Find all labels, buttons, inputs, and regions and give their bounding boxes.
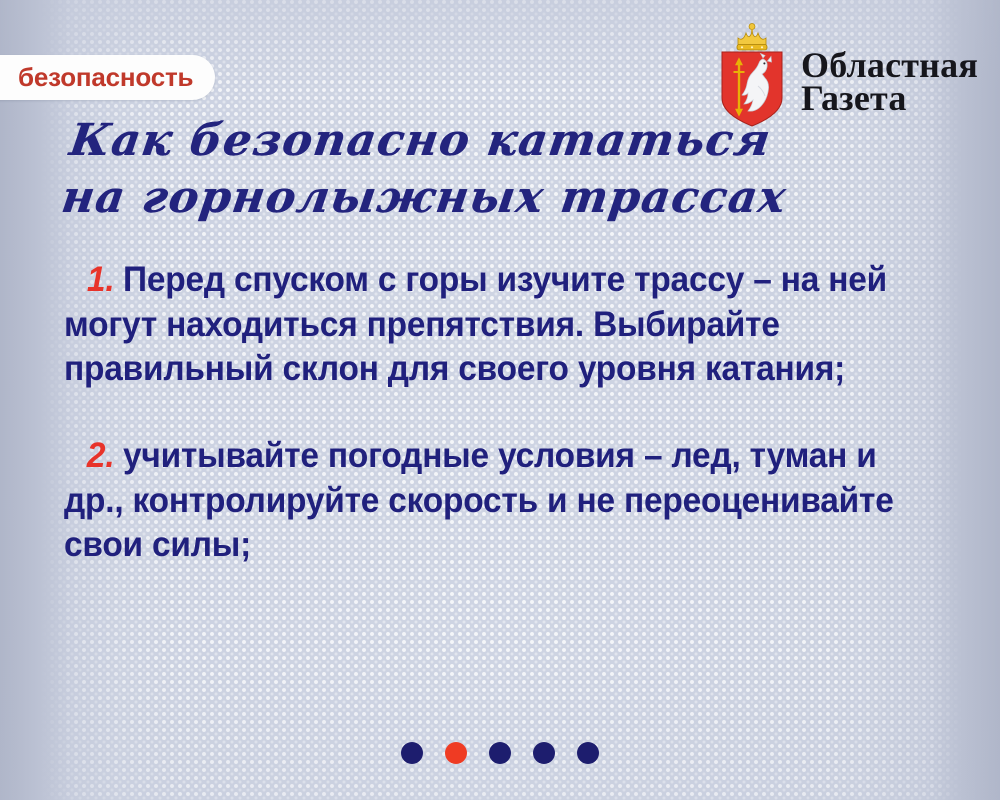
masthead-line-2: Газета bbox=[801, 82, 978, 115]
pagination-dots[interactable] bbox=[0, 742, 1000, 764]
tip-text-2: учитывайте погодные условия – лед, туман… bbox=[64, 436, 894, 564]
tip-text-1: Перед спуском с горы изучите трассу – на… bbox=[64, 260, 887, 388]
pagination-dot-5[interactable] bbox=[577, 742, 599, 764]
category-badge: безопасность bbox=[0, 55, 215, 100]
infographic-slide: безопасность bbox=[0, 0, 1000, 800]
pagination-dot-2[interactable] bbox=[445, 742, 467, 764]
masthead-wordmark: Областная Газета bbox=[801, 33, 978, 115]
pagination-dot-3[interactable] bbox=[489, 742, 511, 764]
category-badge-label: безопасность bbox=[18, 62, 193, 93]
tip-item-2: 2.учитывайте погодные условия – лед, тум… bbox=[64, 434, 914, 568]
pagination-dot-1[interactable] bbox=[401, 742, 423, 764]
tip-number-2: 2. bbox=[64, 436, 123, 475]
tip-number-1: 1. bbox=[64, 260, 123, 299]
page-title: Как безопасно кататься на горнолыжных тр… bbox=[58, 112, 834, 226]
pagination-dot-4[interactable] bbox=[533, 742, 555, 764]
tips-list: 1.Перед спуском с горы изучите трассу – … bbox=[64, 258, 954, 568]
tip-item-1: 1.Перед спуском с горы изучите трассу – … bbox=[64, 258, 914, 392]
